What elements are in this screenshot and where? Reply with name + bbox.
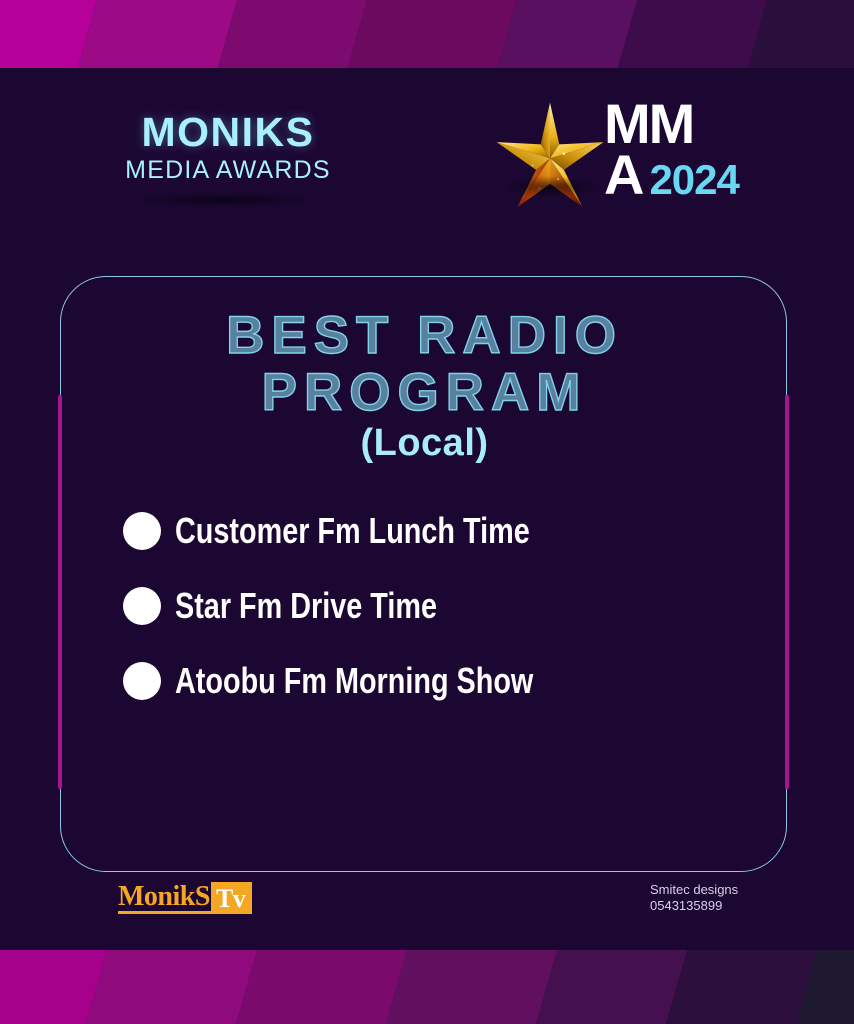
brand-logo-shadow: [130, 192, 320, 208]
brand-name-sub: MEDIA AWARDS: [108, 154, 348, 187]
nominee-row[interactable]: Customer Fm Lunch Time: [123, 493, 743, 568]
designer-credit-name: Smitec designs: [650, 882, 738, 898]
nominee-bullet-icon: [123, 512, 161, 550]
award-category-card: BEST RADIO PROGRAM (Local) Customer Fm L…: [60, 276, 787, 872]
channel-logo: MonikS Tv: [118, 882, 252, 914]
event-logo: MM A 2024: [492, 94, 752, 234]
award-category-subtitle: (Local): [61, 422, 788, 465]
channel-logo-word: MonikS: [118, 882, 211, 914]
event-initials: MM A 2024: [604, 100, 739, 200]
event-initials-line1: MM: [604, 100, 739, 148]
designer-credit-phone: 0543135899: [650, 898, 738, 914]
award-poster: MONIKS MEDIA AWARDS: [0, 0, 854, 1024]
poster-header: MONIKS MEDIA AWARDS: [0, 70, 854, 260]
event-initials-line2-row: A 2024: [604, 150, 739, 200]
brand-name-main: MONIKS: [108, 112, 348, 152]
channel-logo-badge: Tv: [211, 882, 252, 914]
designer-credit: Smitec designs 0543135899: [650, 882, 738, 915]
bottom-decorative-band: [0, 950, 854, 1024]
star-shadow: [498, 176, 602, 198]
gold-star-icon: [492, 98, 608, 214]
nominee-label: Star Fm Drive Time: [175, 585, 437, 627]
brand-logo: MONIKS MEDIA AWARDS: [108, 112, 348, 187]
event-year: 2024: [649, 161, 738, 199]
nominee-row[interactable]: Star Fm Drive Time: [123, 568, 743, 643]
nominee-list: Customer Fm Lunch TimeStar Fm Drive Time…: [123, 493, 743, 718]
event-initials-line2: A: [604, 150, 644, 200]
nominee-label: Customer Fm Lunch Time: [175, 510, 530, 552]
nominee-row[interactable]: Atoobu Fm Morning Show: [123, 643, 743, 718]
nominee-label: Atoobu Fm Morning Show: [175, 660, 533, 702]
nominee-bullet-icon: [123, 587, 161, 625]
award-category-title: BEST RADIO PROGRAM: [61, 307, 788, 421]
poster-footer: MonikS Tv Smitec designs 0543135899: [0, 874, 854, 950]
nominee-bullet-icon: [123, 662, 161, 700]
top-decorative-band: [0, 0, 854, 70]
